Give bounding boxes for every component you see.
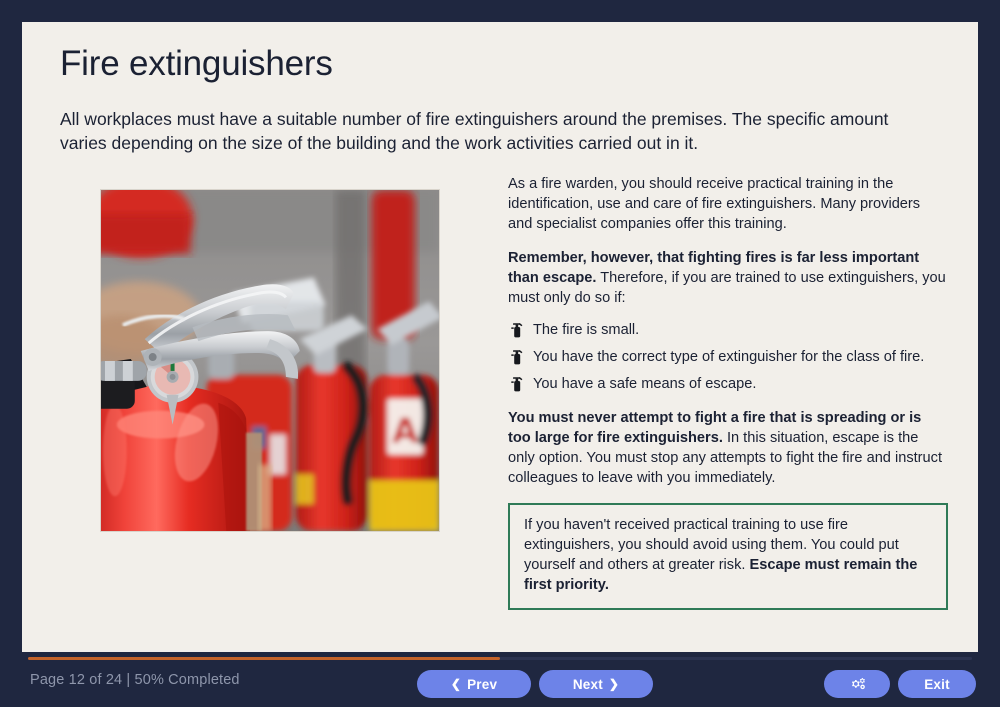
text-column: As a fire warden, you should receive pra… [508, 173, 948, 610]
slide-content: Fire extinguishers All workplaces must h… [60, 44, 948, 610]
utility-buttons: Exit [824, 670, 976, 698]
slide-panel: Fire extinguishers All workplaces must h… [22, 22, 978, 652]
content-columns: A [60, 173, 948, 610]
list-item-label: You have a safe means of escape. [533, 376, 756, 392]
page-status: Page 12 of 24 | 50% Completed [30, 672, 240, 688]
list-item-label: You have the correct type of extinguishe… [533, 349, 924, 365]
chevron-left-icon: ❮ [451, 678, 461, 690]
callout-text: If you haven't received practical traini… [524, 516, 933, 596]
page-title: Fire extinguishers [60, 44, 948, 84]
next-button-label: Next [573, 677, 603, 692]
list-item: You have a safe means of escape. [508, 375, 948, 395]
prev-button-label: Prev [467, 677, 497, 692]
remember-paragraph: Remember, however, that fighting fires i… [508, 249, 948, 309]
course-player: Fire extinguishers All workplaces must h… [0, 0, 1000, 707]
fire-extinguisher-icon [509, 322, 525, 339]
svg-text:A: A [392, 411, 418, 450]
fire-extinguisher-icon [509, 349, 525, 366]
list-item-label: The fire is small. [533, 322, 639, 338]
navigation-buttons: ❮ Prev Next ❯ [417, 670, 653, 698]
warning-paragraph: You must never attempt to fight a fire t… [508, 409, 948, 489]
list-item: You have the correct type of extinguishe… [508, 348, 948, 368]
settings-button[interactable] [824, 670, 890, 698]
chevron-right-icon: ❯ [609, 678, 619, 690]
prev-button[interactable]: ❮ Prev [417, 670, 531, 698]
progress-bar-track[interactable] [28, 657, 972, 660]
condition-list: The fire is small. [508, 321, 948, 395]
exit-button-label: Exit [924, 677, 950, 692]
training-paragraph: As a fire warden, you should receive pra… [508, 175, 948, 235]
next-button[interactable]: Next ❯ [539, 670, 653, 698]
progress-bar-fill [28, 657, 500, 660]
fire-extinguisher-icon [509, 376, 525, 393]
cogs-icon [848, 676, 867, 692]
callout-box: If you haven't received practical traini… [508, 503, 948, 610]
fire-extinguisher-photo: A [100, 189, 440, 532]
list-item: The fire is small. [508, 321, 948, 341]
intro-paragraph: All workplaces must have a suitable numb… [60, 108, 913, 155]
exit-button[interactable]: Exit [898, 670, 976, 698]
photo-illustration: A [101, 190, 439, 531]
